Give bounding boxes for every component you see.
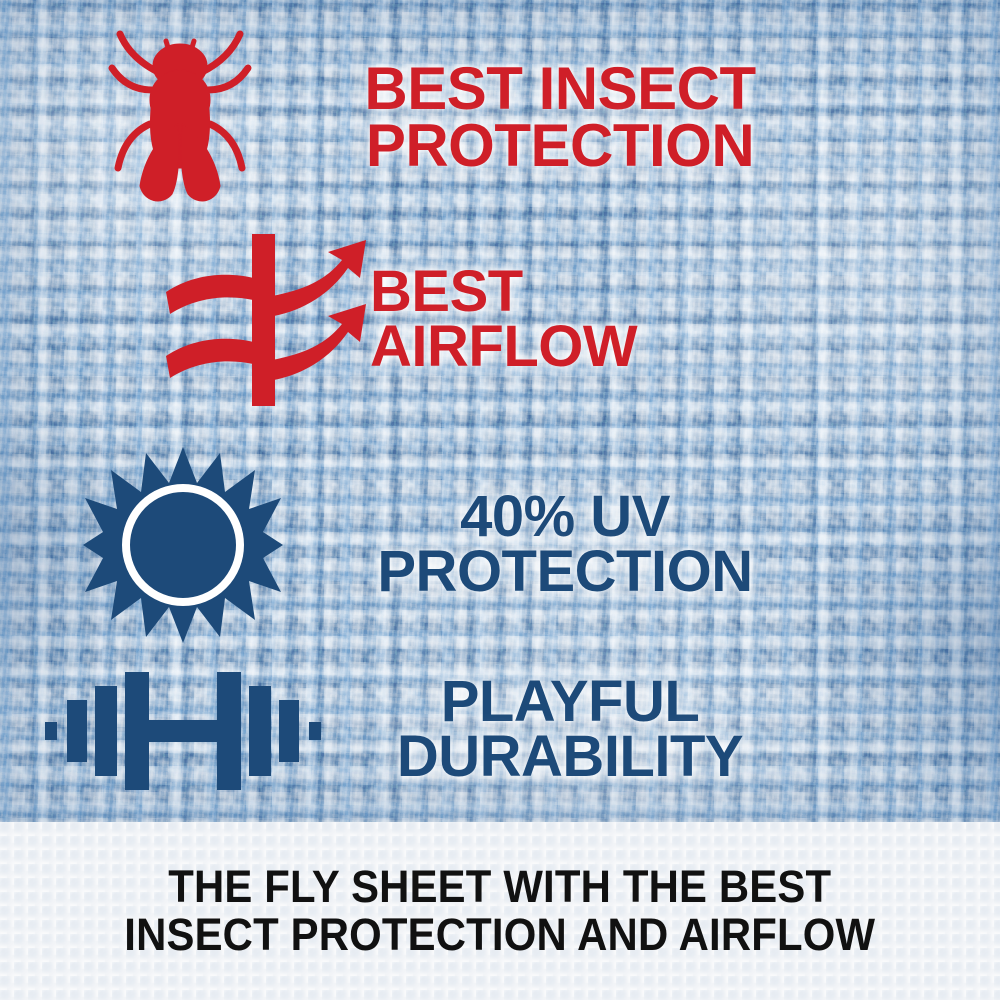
dumbbell-icon [0, 645, 365, 815]
feature-label-uv-protection: 40% UV PROTECTION [365, 490, 765, 599]
feature-label-insect-protection: BEST INSECT PROTECTION [360, 61, 760, 174]
caption-band: THE FLY SHEET WITH THE BEST INSECT PROTE… [0, 822, 1000, 1000]
caption-text: THE FLY SHEET WITH THE BEST INSECT PROTE… [125, 863, 876, 958]
feature-label-durability: PLAYFUL DURABILITY [365, 675, 775, 784]
feature-row-insect-protection: BEST INSECT PROTECTION [0, 20, 1000, 215]
feature-row-uv-protection: 40% UV PROTECTION [0, 440, 1000, 650]
feature-row-durability: PLAYFUL DURABILITY [0, 645, 1000, 815]
fly-icon [0, 20, 360, 215]
sun-icon [0, 440, 365, 650]
airflow-arrows-icon [0, 222, 370, 417]
feature-row-airflow: BEST AIRFLOW [0, 222, 1000, 417]
feature-label-airflow: BEST AIRFLOW [370, 265, 790, 374]
product-feature-poster: BEST INSECT PROTECTION BEST AIRFLO [0, 0, 1000, 1000]
